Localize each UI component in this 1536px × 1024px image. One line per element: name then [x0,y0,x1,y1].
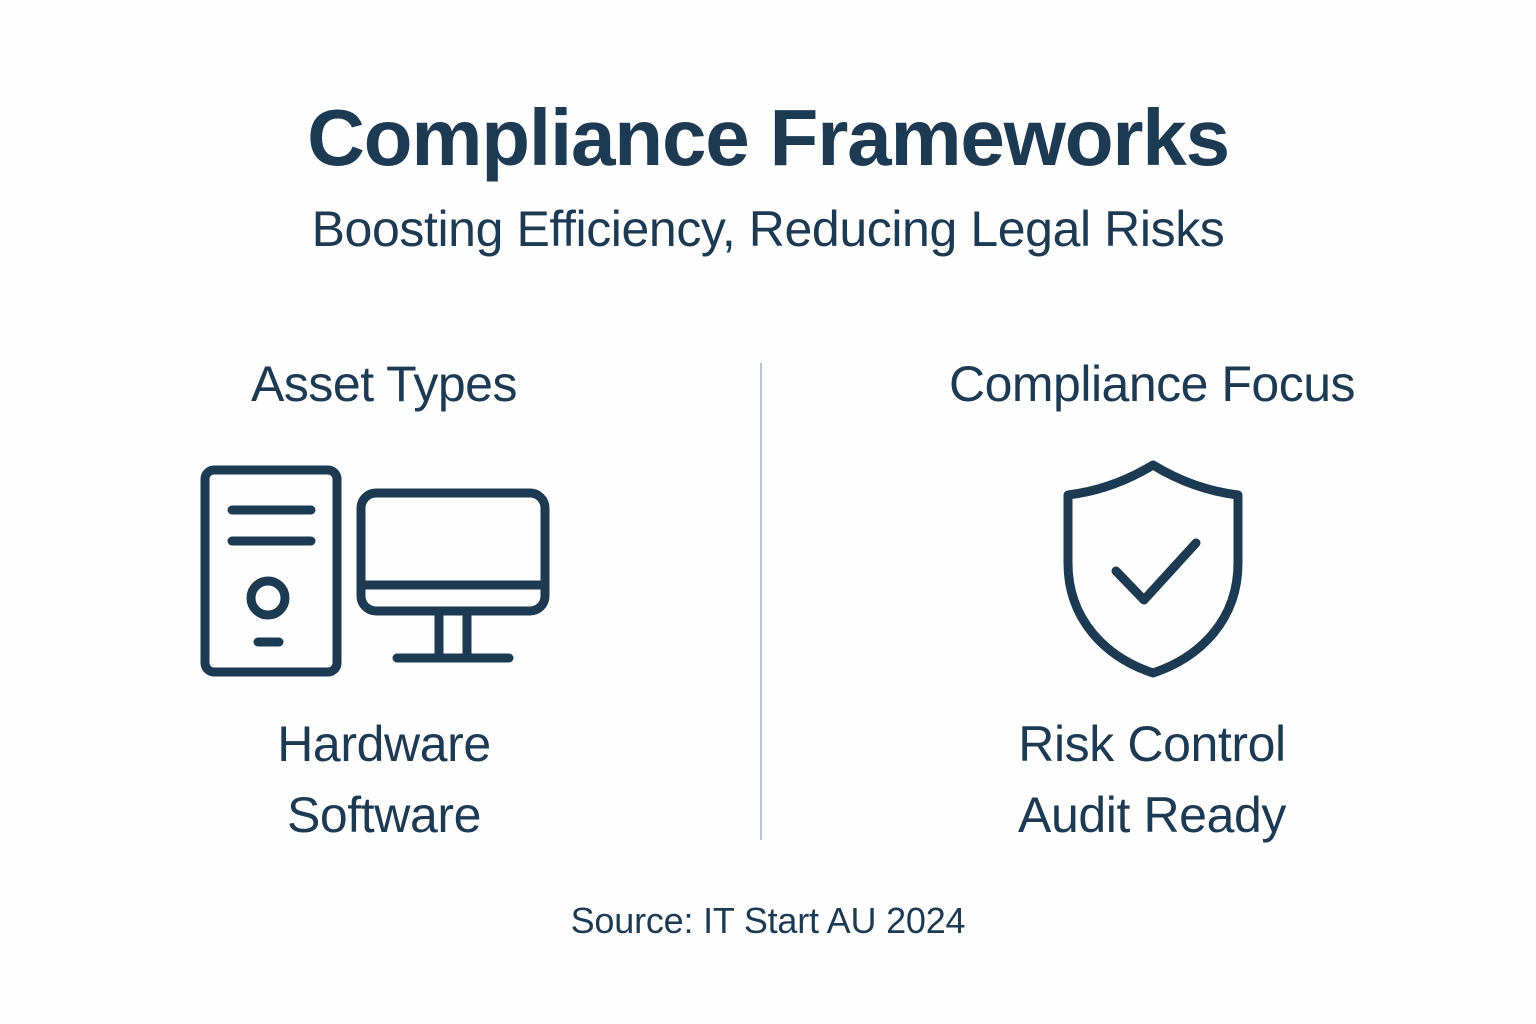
desktop-computer-icon-svg [199,461,551,677]
shield-check-icon [1056,455,1256,683]
source-attribution: Source: IT Start AU 2024 [571,900,966,941]
column-heading-compliance-focus: Compliance Focus [949,358,1355,411]
monitor-screen [361,493,545,611]
compliance-focus-labels: Risk Control Audit Ready [1018,709,1286,851]
infographic-canvas: Compliance Frameworks Boosting Efficienc… [0,0,1536,1024]
column-compliance-focus: Compliance Focus Risk Control Audit Read… [768,358,1536,851]
tower-power-button [251,581,285,615]
label-audit-ready: Audit Ready [1018,780,1286,851]
desktop-computer-icon [199,455,551,683]
check-mark [1116,543,1196,600]
label-hardware: Hardware [277,709,491,780]
columns-container: Asset Types [0,358,1536,848]
shield-outline [1068,465,1238,673]
page-title: Compliance Frameworks [0,96,1536,180]
asset-types-labels: Hardware Software [277,709,491,851]
column-asset-types: Asset Types [0,358,768,851]
page-subtitle: Boosting Efficiency, Reducing Legal Risk… [0,202,1536,257]
header: Compliance Frameworks Boosting Efficienc… [0,96,1536,257]
label-risk-control: Risk Control [1018,709,1286,780]
footer: Source: IT Start AU 2024 [0,900,1536,942]
column-heading-asset-types: Asset Types [251,358,517,411]
label-software: Software [277,780,491,851]
shield-check-icon-svg [1056,459,1256,679]
